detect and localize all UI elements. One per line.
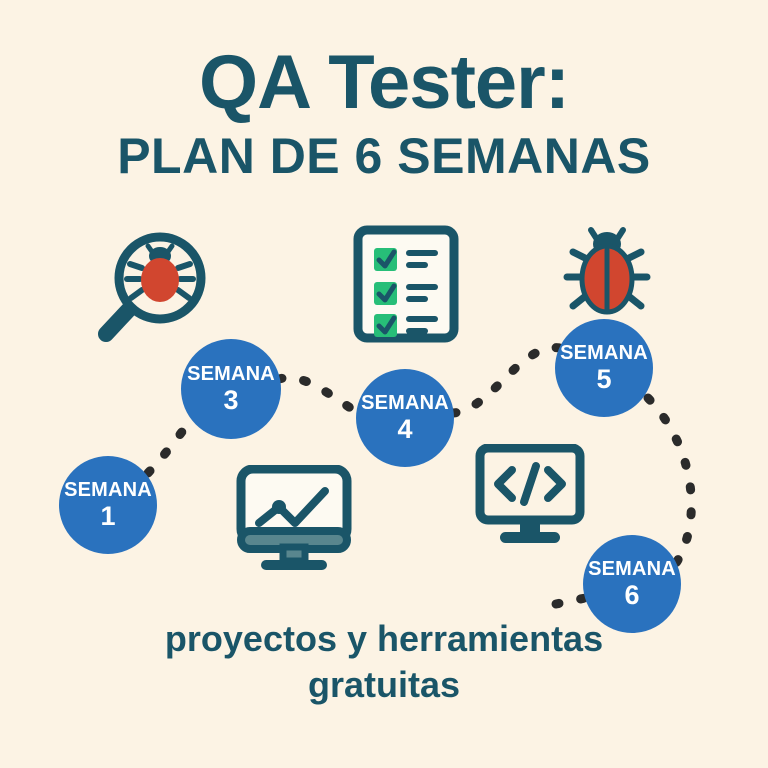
week-number-6: 6 [624, 581, 639, 609]
code-monitor-stand [520, 520, 540, 534]
week-label-4: SEMANA [361, 393, 449, 414]
week-number-5: 5 [596, 365, 611, 393]
checklist-line-3a [406, 316, 438, 322]
week-label-5: SEMANA [560, 343, 648, 364]
week-node-3[interactable]: SEMANA 3 [181, 339, 281, 439]
monitor-chart-icon [235, 465, 353, 578]
monitor-stand [283, 547, 305, 561]
week-label-6: SEMANA [588, 559, 676, 580]
checklist-line-2a [406, 284, 438, 290]
bug-body [141, 258, 179, 302]
week-label-1: SEMANA [64, 480, 152, 501]
monitor-foot [261, 560, 327, 570]
path-segment-tail-6 [556, 598, 585, 604]
path-segment-4-5 [453, 348, 560, 413]
week-node-6[interactable]: SEMANA 6 [583, 535, 681, 633]
week-number-1: 1 [100, 502, 115, 530]
checklist-line-1a [406, 250, 438, 256]
week-label-3: SEMANA [187, 364, 275, 385]
path-segment-1-3 [148, 412, 196, 473]
checklist-board [358, 230, 454, 338]
week-node-1[interactable]: SEMANA 1 [59, 456, 157, 554]
chart-point [272, 500, 286, 514]
checklist-line-3b [406, 328, 428, 334]
checklist-line-2b [406, 296, 428, 302]
checklist-icon [352, 224, 460, 349]
checklist-line-1b [406, 262, 428, 268]
week-number-3: 3 [223, 386, 238, 414]
infographic-poster: QA Tester: PLAN DE 6 SEMANAS [0, 0, 768, 768]
week-node-5[interactable]: SEMANA 5 [555, 319, 653, 417]
week-number-4: 4 [397, 415, 412, 443]
monitor-code-icon [474, 444, 586, 553]
week-node-4[interactable]: SEMANA 4 [356, 369, 454, 467]
magnifier-bug-icon [90, 226, 214, 355]
path-segment-3-4 [279, 378, 357, 412]
code-monitor-foot [500, 532, 560, 543]
